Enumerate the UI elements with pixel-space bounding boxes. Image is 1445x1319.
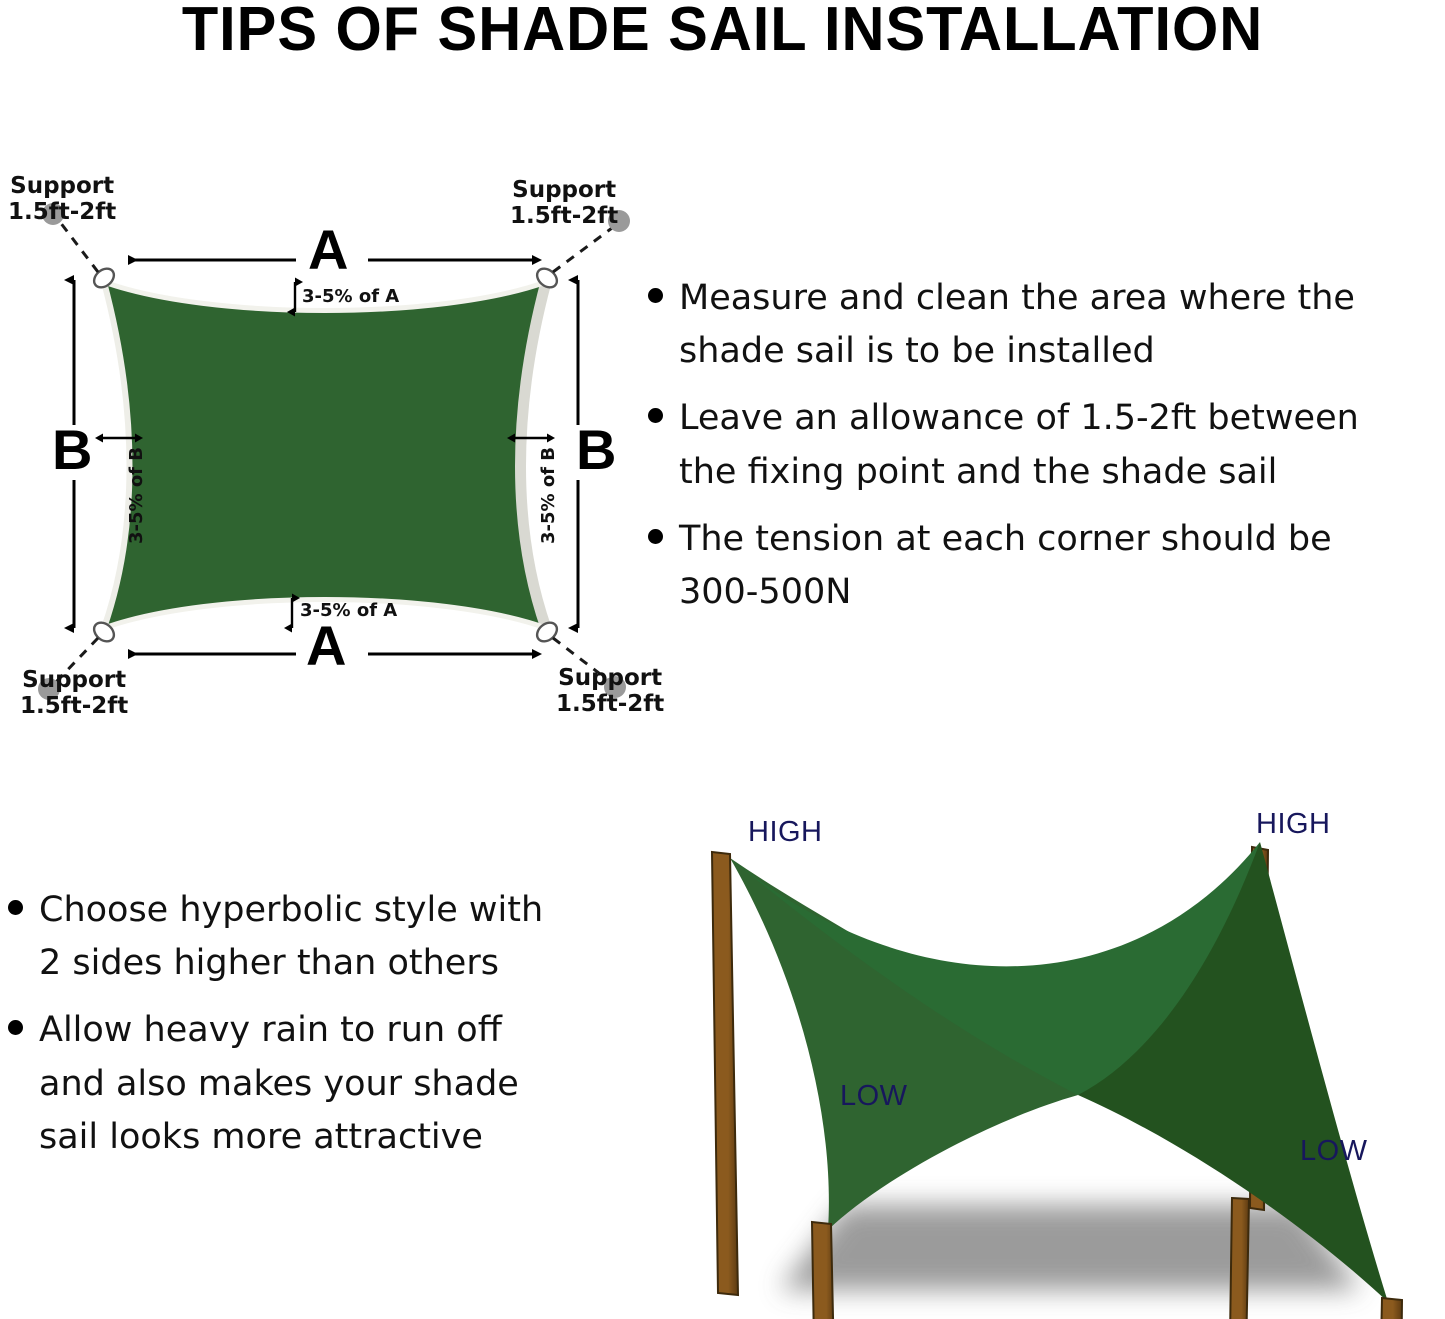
page-title: TIPS OF SHADE SAIL INSTALLATION bbox=[29, 0, 1416, 65]
list-item: Allow heavy rain to run off and also mak… bbox=[8, 1004, 638, 1164]
support-label-line1: Support bbox=[510, 178, 618, 204]
support-label-line2: 1.5ft-2ft bbox=[20, 694, 128, 720]
support-line-top-right bbox=[553, 228, 612, 272]
tip-text: The tension at each corner should be 300… bbox=[679, 513, 1332, 619]
tip-line: The tension at each corner should be bbox=[679, 519, 1332, 559]
support-label-line2: 1.5ft-2ft bbox=[510, 204, 618, 230]
dimension-label-height-right: B bbox=[576, 422, 616, 478]
list-item: The tension at each corner should be 300… bbox=[648, 513, 1445, 619]
tip-line: 2 sides higher than others bbox=[39, 943, 499, 983]
support-label-line1: Support bbox=[8, 174, 116, 200]
support-label-line2: 1.5ft-2ft bbox=[8, 200, 116, 226]
label-low-right: LOW bbox=[1300, 1135, 1368, 1168]
label-high-right: HIGH bbox=[1256, 808, 1331, 841]
bullet-dot-icon bbox=[8, 900, 23, 915]
dimension-label-width-top: A bbox=[308, 222, 348, 278]
support-label-line1: Support bbox=[556, 666, 664, 692]
bullet-dot-icon bbox=[8, 1020, 23, 1035]
dimension-label-height-left: B bbox=[52, 422, 92, 478]
support-label-bottom-right: Support 1.5ft-2ft bbox=[556, 666, 664, 718]
shade-sail-shape bbox=[104, 282, 546, 628]
tip-line: the fixing point and the shade sail bbox=[679, 452, 1277, 492]
support-label-bottom-left: Support 1.5ft-2ft bbox=[20, 668, 128, 720]
tips-list-right: Measure and clean the area where the sha… bbox=[648, 272, 1445, 619]
curve-label-top: 3-5% of A bbox=[302, 286, 399, 307]
rect-sail-diagram: Support 1.5ft-2ft Support 1.5ft-2ft Supp… bbox=[0, 160, 660, 740]
tip-line: Measure and clean the area where the bbox=[679, 278, 1355, 318]
support-line-top-left bbox=[60, 222, 98, 272]
bullet-dot-icon bbox=[648, 529, 663, 544]
label-low-left: LOW bbox=[840, 1080, 908, 1113]
post-high-left bbox=[712, 852, 738, 1295]
label-high-left: HIGH bbox=[748, 816, 823, 849]
curve-label-left: 3-5% of B bbox=[126, 447, 147, 544]
hyperbolic-sail-svg bbox=[660, 790, 1445, 1319]
dimension-label-width-bottom: A bbox=[306, 618, 346, 674]
list-item: Leave an allowance of 1.5-2ft between th… bbox=[648, 392, 1445, 498]
tip-text: Allow heavy rain to run off and also mak… bbox=[39, 1004, 519, 1164]
tip-text: Measure and clean the area where the sha… bbox=[679, 272, 1355, 378]
tip-line: and also makes your shade bbox=[39, 1064, 519, 1104]
support-label-line1: Support bbox=[20, 668, 128, 694]
list-item: Choose hyperbolic style with 2 sides hig… bbox=[8, 884, 638, 990]
tip-line: Allow heavy rain to run off bbox=[39, 1010, 502, 1050]
list-item: Measure and clean the area where the sha… bbox=[648, 272, 1445, 378]
support-label-top-right: Support 1.5ft-2ft bbox=[510, 178, 618, 230]
hyperbolic-sail-diagram: HIGH HIGH LOW LOW bbox=[660, 790, 1445, 1319]
curve-label-right: 3-5% of B bbox=[538, 447, 559, 544]
infographic-page: TIPS OF SHADE SAIL INSTALLATION bbox=[0, 0, 1445, 1319]
bullet-dot-icon bbox=[648, 408, 663, 423]
bullet-dot-icon bbox=[648, 288, 663, 303]
tip-line: Choose hyperbolic style with bbox=[39, 890, 543, 930]
tip-text: Choose hyperbolic style with 2 sides hig… bbox=[39, 884, 543, 990]
tips-list-left: Choose hyperbolic style with 2 sides hig… bbox=[8, 884, 638, 1164]
curve-label-bottom: 3-5% of A bbox=[300, 600, 397, 621]
tip-line: Leave an allowance of 1.5-2ft between bbox=[679, 398, 1359, 438]
tip-line: 300-500N bbox=[679, 572, 851, 612]
post-low-right bbox=[1378, 1298, 1402, 1319]
tip-text: Leave an allowance of 1.5-2ft between th… bbox=[679, 392, 1359, 498]
post-low-left bbox=[812, 1222, 835, 1319]
support-label-line2: 1.5ft-2ft bbox=[556, 692, 664, 718]
tip-line: shade sail is to be installed bbox=[679, 331, 1155, 371]
support-label-top-left: Support 1.5ft-2ft bbox=[8, 174, 116, 226]
tip-line: sail looks more attractive bbox=[39, 1117, 483, 1157]
